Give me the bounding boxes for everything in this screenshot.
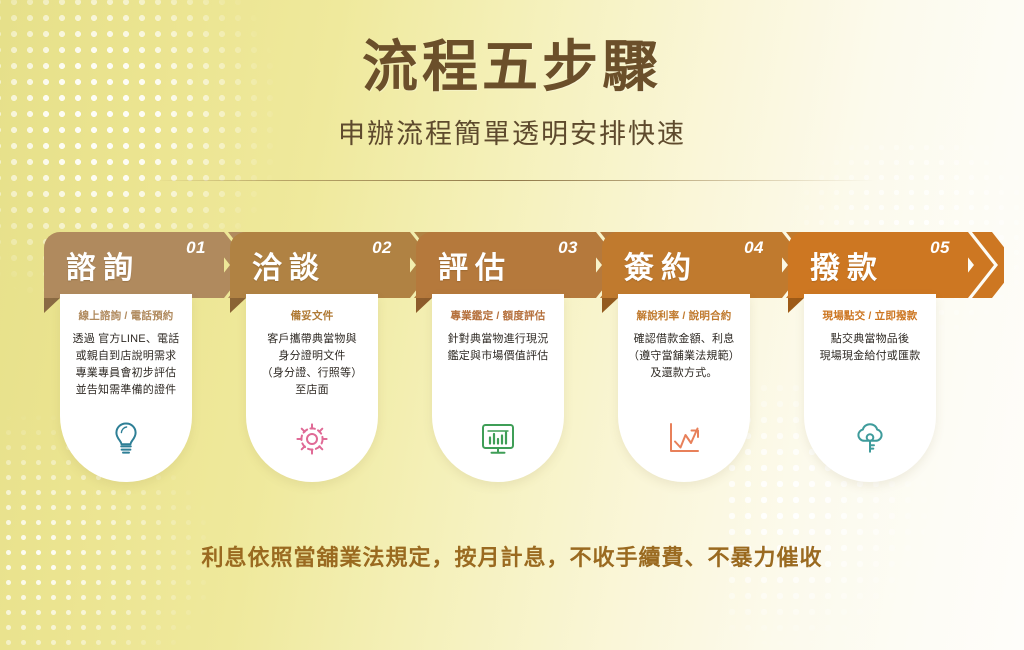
growth-chart-icon xyxy=(666,422,702,456)
step-subtitle: 現場點交 / 立即撥款 xyxy=(823,310,918,324)
step-subtitle: 備妥文件 xyxy=(291,310,334,324)
page-subtitle: 申辦流程簡單透明安排快速 xyxy=(0,112,1024,151)
step-icon-growth-chart-icon xyxy=(618,422,750,456)
steps-row: 諮詢01線上諮詢 / 電話預約透過 官方LINE、電話 或親自到店說明需求 專業… xyxy=(44,232,984,482)
step-card-01[interactable]: 諮詢01線上諮詢 / 電話預約透過 官方LINE、電話 或親自到店說明需求 專業… xyxy=(44,232,224,482)
step-number: 02 xyxy=(372,238,392,258)
step-number: 01 xyxy=(186,238,206,258)
step-body-text: 針對典當物進行現況 鑑定與市場價值評估 xyxy=(442,331,555,365)
step-subtitle: 解說利率 / 說明合約 xyxy=(637,310,732,324)
step-subtitle: 線上諮詢 / 電話預約 xyxy=(79,310,174,324)
step-banner-04: 簽約04 xyxy=(602,232,782,298)
footer-note: 利息依照當舖業法規定，按月計息，不收手續費、不暴力催收 xyxy=(0,540,1024,572)
step-banner-01: 諮詢01 xyxy=(44,232,224,298)
step-icon-gear-icon xyxy=(246,422,378,456)
step-body-text: 透過 官方LINE、電話 或親自到店說明需求 專業專員會初步評估 並告知需準備的… xyxy=(67,331,186,399)
step-card-03[interactable]: 評估03專業鑑定 / 額度評估針對典當物進行現況 鑑定與市場價值評估 xyxy=(416,232,596,482)
step-banner-fold xyxy=(44,298,60,313)
step-banner-fold xyxy=(602,298,618,313)
tree-key-icon xyxy=(853,420,887,456)
lightbulb-icon xyxy=(109,420,143,456)
step-number: 05 xyxy=(930,238,950,258)
step-icon-tree-key-icon xyxy=(804,420,936,456)
header-divider xyxy=(152,180,876,181)
step-number: 03 xyxy=(558,238,578,258)
step-card-04[interactable]: 簽約04解說利率 / 說明合約確認借款金額、利息 （遵守當舖業法規範） 及還款方… xyxy=(602,232,782,482)
step-number: 04 xyxy=(744,238,764,258)
step-detail-card: 線上諮詢 / 電話預約透過 官方LINE、電話 或親自到店說明需求 專業專員會初… xyxy=(60,294,192,482)
step-detail-card: 備妥文件客戶攜帶典當物與 身分證明文件 （身分證、行照等） 至店面 xyxy=(246,294,378,482)
header: 流程五步驟 申辦流程簡單透明安排快速 xyxy=(0,36,1024,151)
step-name: 諮詢 xyxy=(66,243,140,287)
step-body-text: 客戶攜帶典當物與 身分證明文件 （身分證、行照等） 至店面 xyxy=(256,331,369,399)
step-icon-monitor-chart-icon xyxy=(432,422,564,456)
step-name: 簽約 xyxy=(624,243,698,287)
step-banner-fold xyxy=(230,298,246,313)
step-body-text: 點交典當物品後 現場現金給付或匯款 xyxy=(814,331,927,365)
step-subtitle: 專業鑑定 / 額度評估 xyxy=(451,310,546,324)
step-banner-03: 評估03 xyxy=(416,232,596,298)
step-detail-card: 現場點交 / 立即撥款點交典當物品後 現場現金給付或匯款 xyxy=(804,294,936,482)
step-banner-05: 撥款05 xyxy=(788,232,968,298)
step-banner-fold xyxy=(416,298,432,313)
step-banner-fold xyxy=(788,298,804,313)
gear-icon xyxy=(295,422,329,456)
page-title: 流程五步驟 xyxy=(0,36,1024,98)
step-name: 洽談 xyxy=(252,243,326,287)
step-name: 評估 xyxy=(438,243,512,287)
step-name: 撥款 xyxy=(810,243,884,287)
step-card-05[interactable]: 撥款05現場點交 / 立即撥款點交典當物品後 現場現金給付或匯款 xyxy=(788,232,968,482)
step-banner-02: 洽談02 xyxy=(230,232,410,298)
step-body-text: 確認借款金額、利息 （遵守當舖業法規範） 及還款方式。 xyxy=(622,331,746,382)
monitor-chart-icon xyxy=(479,422,517,456)
step-detail-card: 解說利率 / 說明合約確認借款金額、利息 （遵守當舖業法規範） 及還款方式。 xyxy=(618,294,750,482)
step-detail-card: 專業鑑定 / 額度評估針對典當物進行現況 鑑定與市場價值評估 xyxy=(432,294,564,482)
step-icon-lightbulb-icon xyxy=(60,420,192,456)
step-card-02[interactable]: 洽談02備妥文件客戶攜帶典當物與 身分證明文件 （身分證、行照等） 至店面 xyxy=(230,232,410,482)
infographic-canvas: 流程五步驟 申辦流程簡單透明安排快速 諮詢01線上諮詢 / 電話預約透過 官方L… xyxy=(0,0,1024,650)
